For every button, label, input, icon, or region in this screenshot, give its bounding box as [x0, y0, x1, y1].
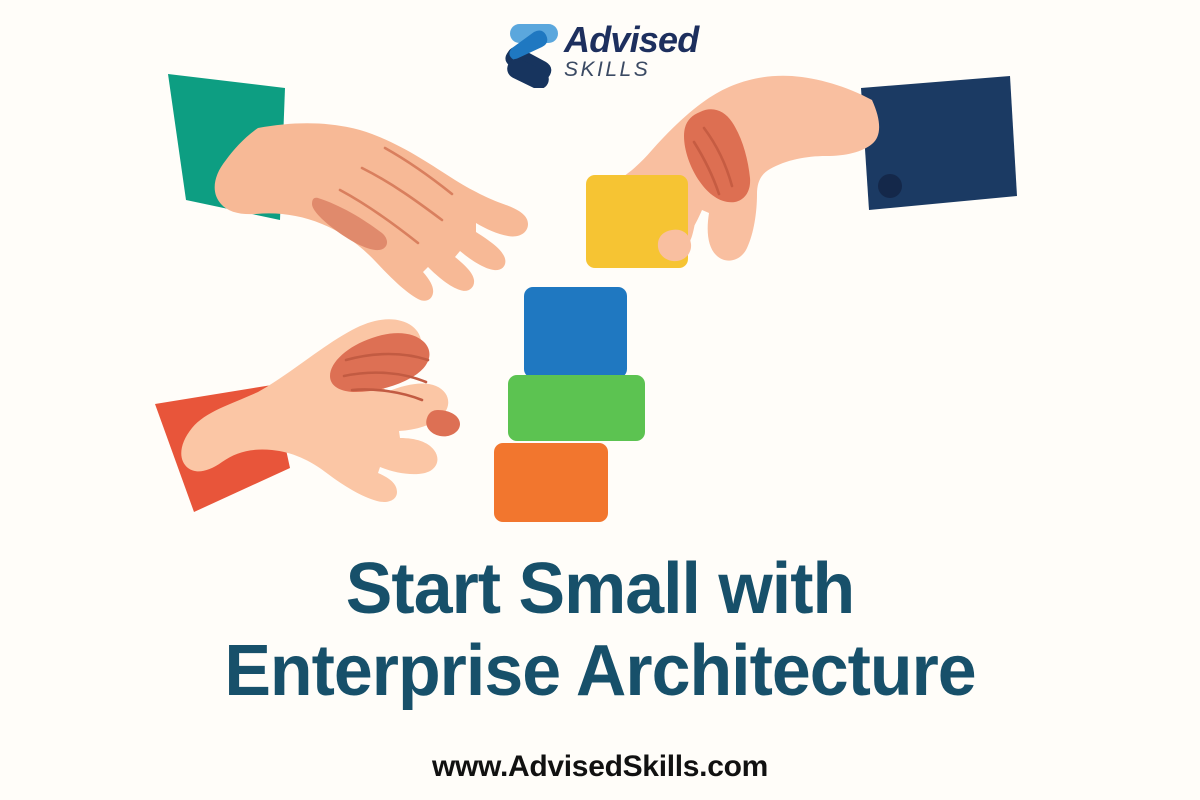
- poster-canvas: Advised SKILLS: [0, 0, 1200, 800]
- hand-bottom-left: [155, 319, 460, 512]
- sleeve-button-dot: [878, 174, 902, 198]
- footer-website-url[interactable]: www.AdvisedSkills.com: [0, 750, 1200, 784]
- orange-block: [494, 443, 608, 522]
- blue-block: [524, 287, 627, 378]
- headline-line-1: Start Small with: [18, 548, 1182, 630]
- headline-line-2: Enterprise Architecture: [18, 630, 1182, 712]
- headline: Start Small with Enterprise Architecture: [0, 548, 1200, 712]
- hand-top-left: [168, 74, 528, 301]
- green-block: [508, 375, 645, 441]
- hand-top-right-fingertip: [658, 230, 691, 261]
- blocks-illustration: [0, 0, 1200, 545]
- hand-top-left-shape: [215, 123, 528, 301]
